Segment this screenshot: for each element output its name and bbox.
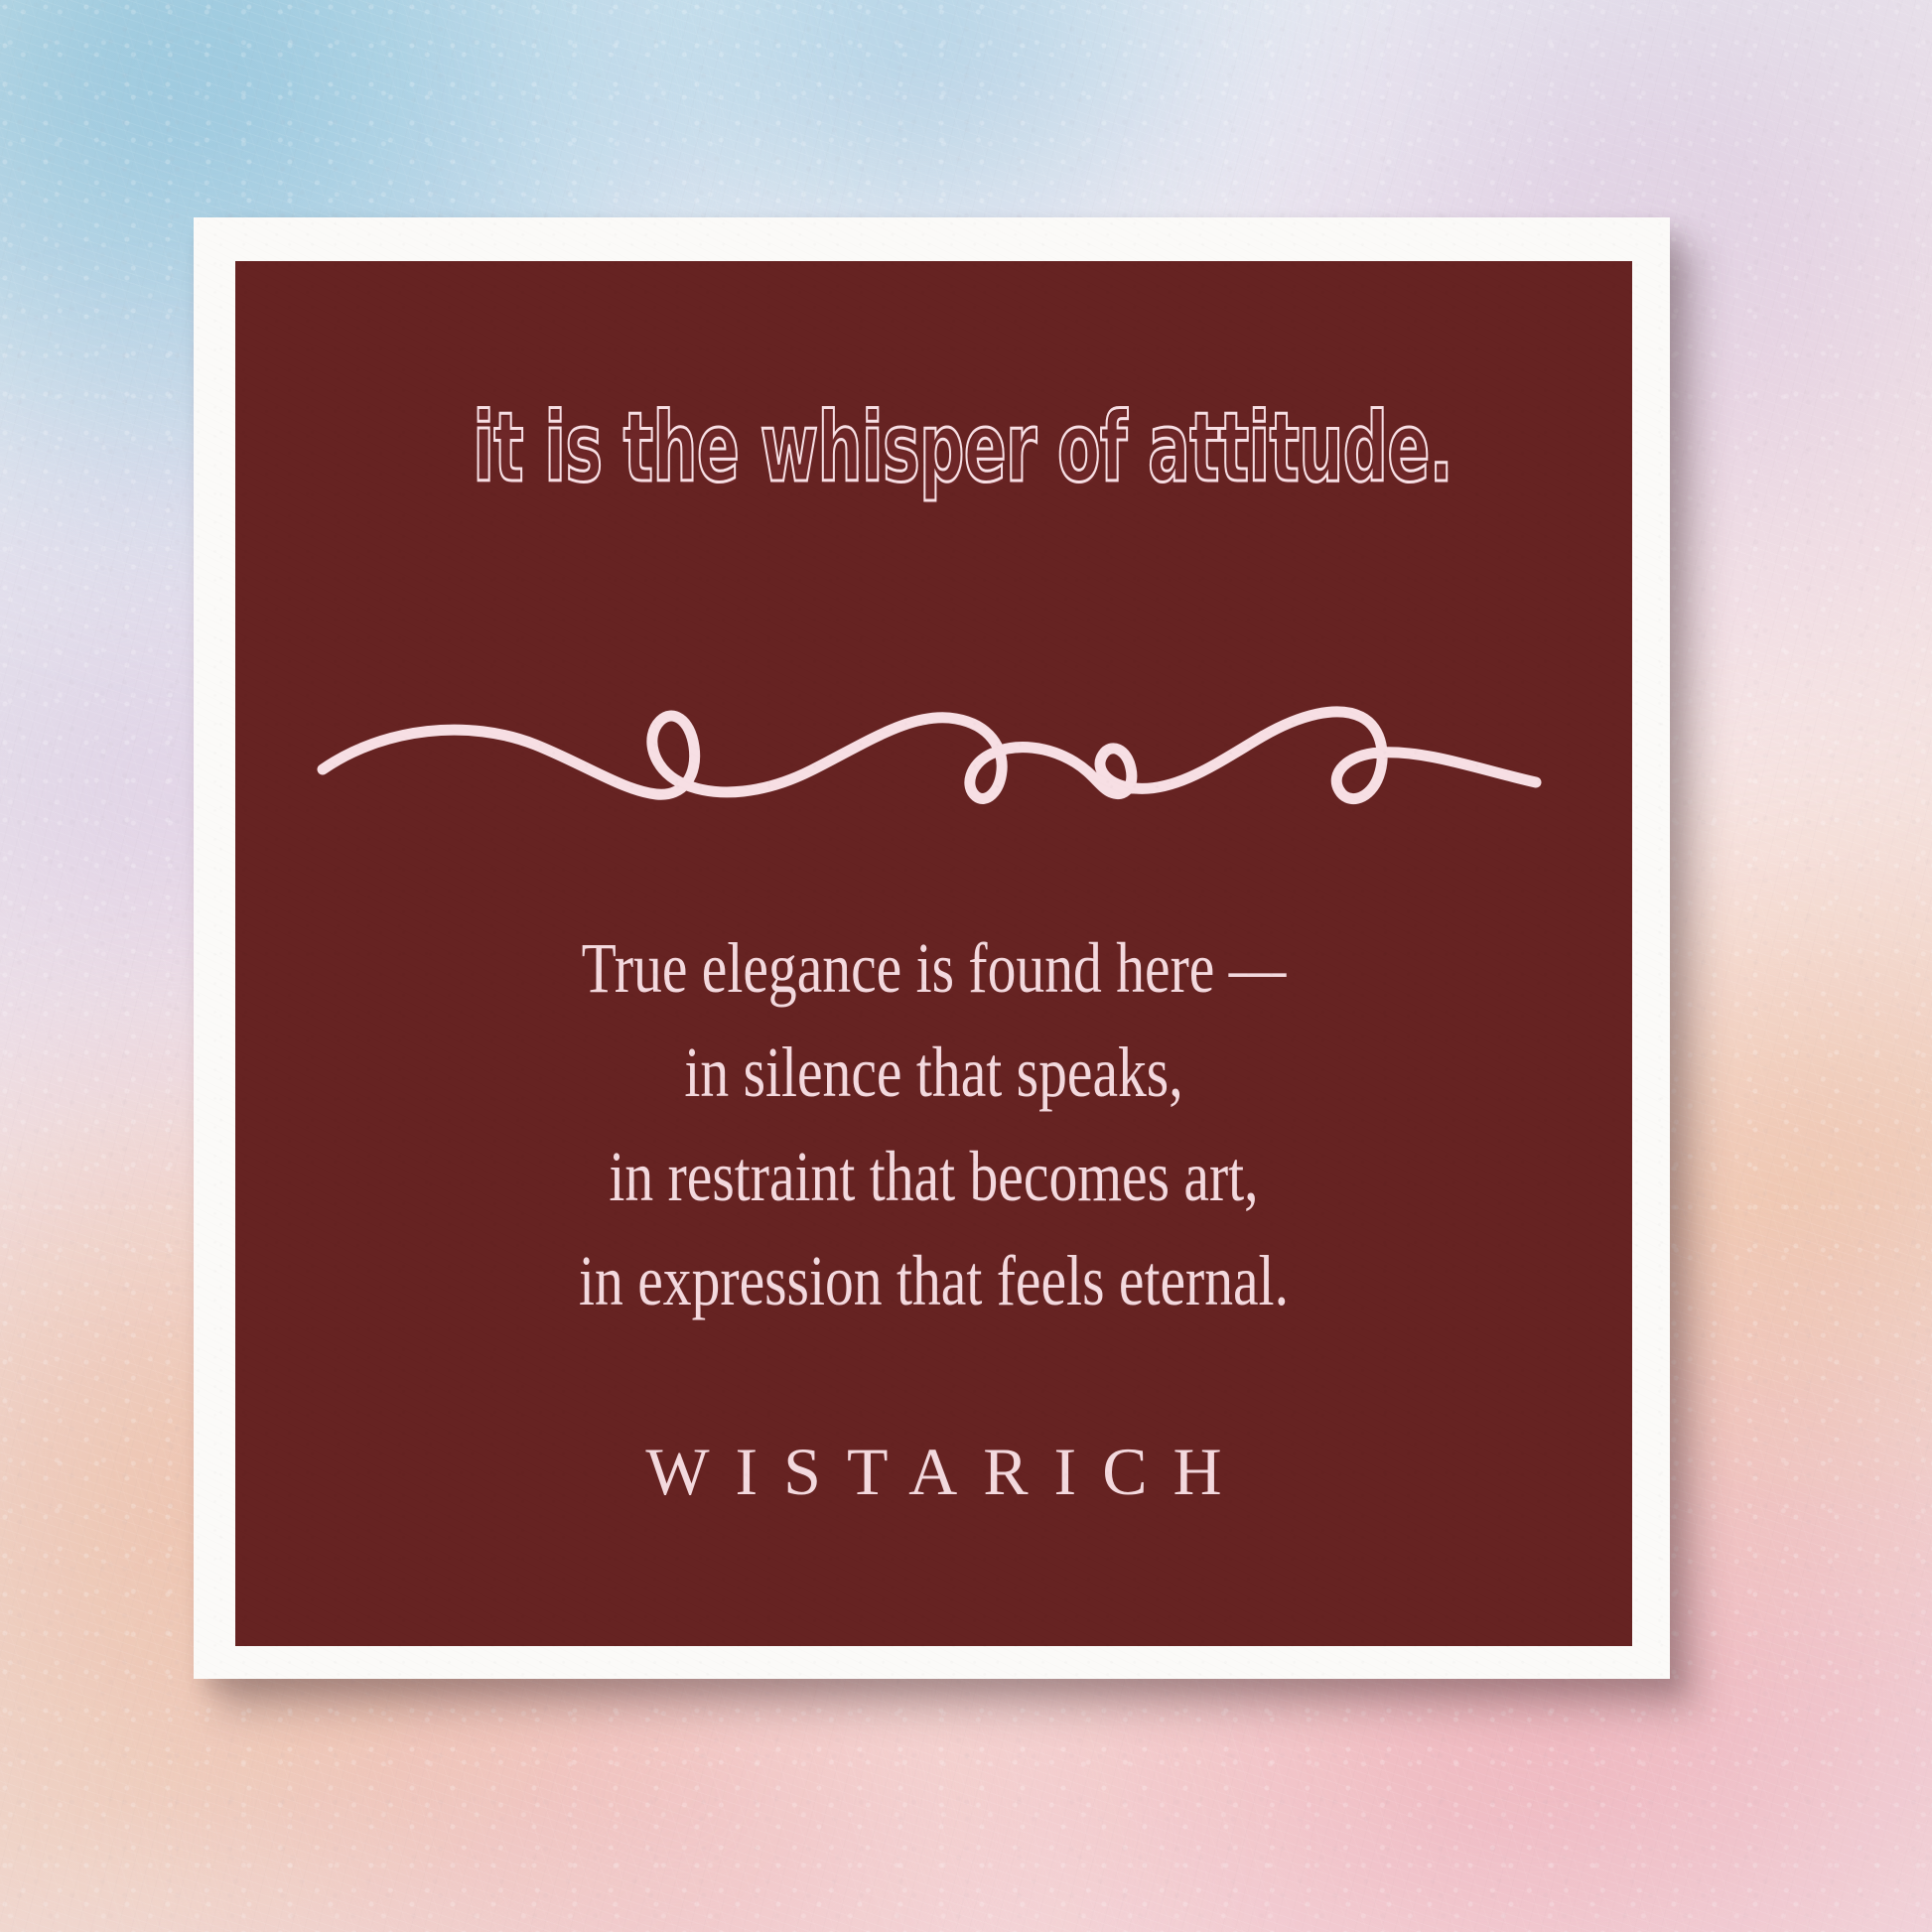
body-line-4: in expression that feels eternal. — [375, 1229, 1493, 1333]
poster-frame-mat: it is the whisper of attitude. True eleg… — [194, 217, 1670, 1679]
brand-wordmark: WISTARICH — [235, 1433, 1632, 1511]
poster-panel: it is the whisper of attitude. True eleg… — [235, 261, 1632, 1646]
poster-headline: it is the whisper of attitude. — [473, 400, 1395, 495]
body-line-3: in restraint that becomes art, — [375, 1125, 1493, 1229]
body-line-1: True elegance is found here — — [375, 916, 1493, 1021]
poster-body-copy: True elegance is found here — in silence… — [375, 916, 1493, 1333]
squiggle-flourish-divider-icon — [235, 623, 1632, 842]
body-line-2: in silence that speaks, — [375, 1021, 1493, 1125]
poster-scene: it is the whisper of attitude. True eleg… — [0, 0, 1932, 1932]
